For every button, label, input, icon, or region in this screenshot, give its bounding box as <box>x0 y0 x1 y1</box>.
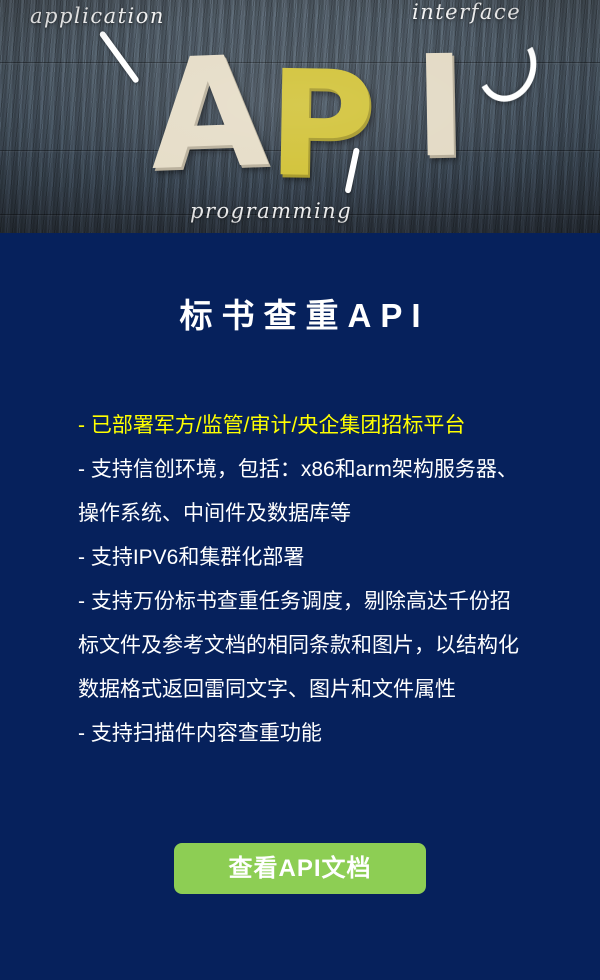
content-panel: 标书查重API - 已部署军方/监管/审计/央企集团招标平台 - 支持信创环境，… <box>0 233 600 980</box>
feature-list: - 已部署军方/监管/审计/央企集团招标平台 - 支持信创环境，包括：x86和a… <box>78 404 528 756</box>
api-product-page: A P I application interface programming … <box>0 0 600 980</box>
page-title: 标书查重API <box>0 233 600 337</box>
list-item: - 支持扫描件内容查重功能 <box>78 712 528 756</box>
annotation-application: application <box>30 4 165 28</box>
wooden-letter-i-icon: I <box>413 38 468 179</box>
list-item: - 已部署军方/监管/审计/央企集团招标平台 <box>78 404 528 448</box>
wooden-letter-p-icon: P <box>267 51 377 199</box>
wooden-letter-a-icon: A <box>147 36 270 192</box>
list-item: - 支持万份标书查重任务调度，剔除高达千份招标文件及参考文档的相同条款和图片，以… <box>78 580 528 712</box>
list-item: - 支持IPV6和集群化部署 <box>78 536 528 580</box>
cta-container: 查看API文档 <box>0 843 600 894</box>
view-api-docs-button[interactable]: 查看API文档 <box>174 843 426 894</box>
annotation-interface: interface <box>412 0 521 24</box>
list-item: - 支持信创环境，包括：x86和arm架构服务器、操作系统、中间件及数据库等 <box>78 448 528 536</box>
annotation-programming: programming <box>190 199 352 223</box>
hero-banner: A P I application interface programming <box>0 0 600 233</box>
